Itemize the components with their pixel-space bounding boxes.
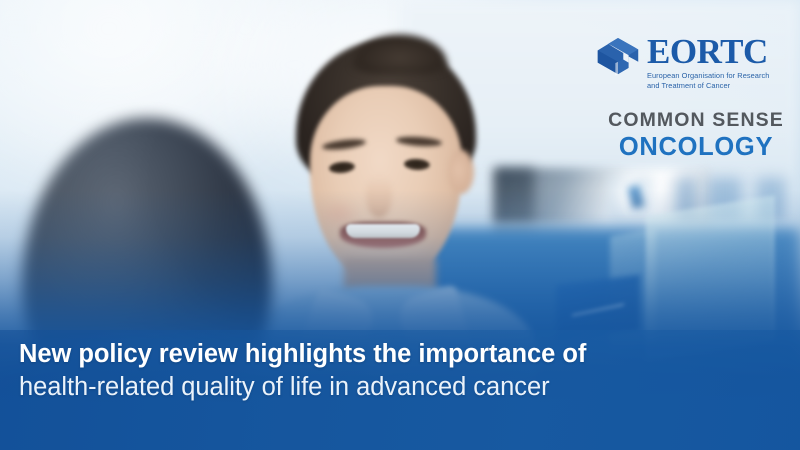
headline-line-1: New policy review highlights the importa… [19,339,639,369]
eortc-wordmark-block: EORTC European Organisation for Research… [647,36,769,90]
cso-line-common-sense: COMMON SENSE [596,109,796,132]
eortc-tagline-line1: European Organisation for Research [647,71,769,80]
headline-line-2: health-related quality of life in advanc… [19,372,639,403]
banner-image: EORTC European Organisation for Research… [0,0,800,450]
eortc-wordmark: EORTC [647,36,769,69]
cso-line-oncology: ONCOLOGY [596,133,796,162]
logo-block: EORTC European Organisation for Research… [596,36,796,162]
headline: New policy review highlights the importa… [19,339,639,403]
eortc-tagline-line2: and Treatment of Cancer [647,81,730,90]
common-sense-oncology-logo: COMMON SENSE ONCOLOGY [596,109,796,162]
eortc-logo: EORTC European Organisation for Research… [596,36,796,90]
eortc-tagline: European Organisation for Research and T… [647,71,769,91]
eortc-cube-icon [596,37,640,83]
